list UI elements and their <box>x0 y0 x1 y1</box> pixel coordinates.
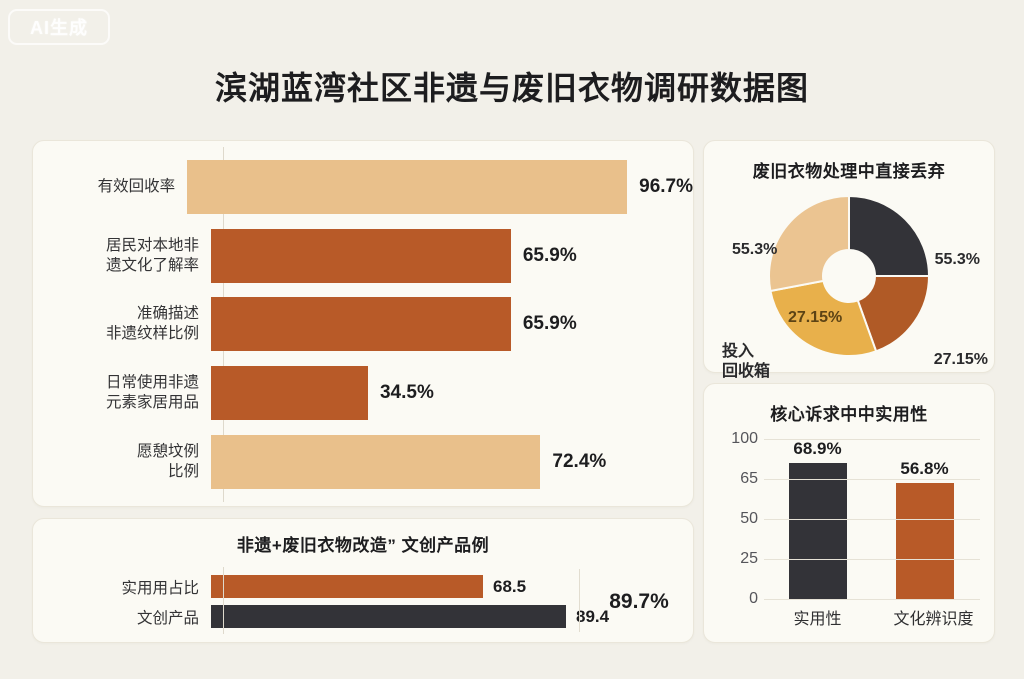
core-demand-title: 核心诉求中中实用性 <box>704 400 994 425</box>
core-demand-value: 68.9% <box>793 439 841 459</box>
core-demand-gridline <box>764 599 980 600</box>
survey-bar-row: 愿憩坟例 比例72.4% <box>33 431 693 493</box>
core-demand-y-tick: 0 <box>718 590 758 608</box>
creative-product-row: 实用用占比68.5 <box>33 574 653 599</box>
survey-bar-label: 有效回收率 <box>33 177 187 197</box>
donut-label-top-right: 55.3% <box>935 250 980 270</box>
survey-bar-row: 准确描述 非遗纹样比例65.9% <box>33 293 693 355</box>
donut-chart-area: 55.3% 55.3% 27.15% 投入 回收箱 27.15% <box>704 188 994 364</box>
core-demand-y-tick: 100 <box>718 430 758 448</box>
core-demand-gridline <box>764 559 980 560</box>
core-demand-chart-area: 1006550250 68.9%56.8% 实用性文化辨识度 <box>718 439 980 629</box>
core-demand-gridline <box>764 519 980 520</box>
survey-bar-label: 居民对本地非 遗文化了解率 <box>33 236 211 276</box>
survey-bar-track: 72.4% <box>211 435 693 489</box>
core-demand-x-label: 实用性 <box>787 605 849 629</box>
survey-bar-row: 居民对本地非 遗文化了解率65.9% <box>33 225 693 287</box>
donut-chart-svg <box>763 190 935 362</box>
donut-label-bottom-left: 投入 回收箱 <box>722 342 770 381</box>
donut-slice <box>849 196 929 276</box>
survey-bar-value: 65.9% <box>523 313 577 335</box>
donut-label-inner: 27.15% <box>788 308 842 328</box>
ai-watermark-label: AI生成 <box>30 14 88 40</box>
survey-bar-value: 65.9% <box>523 245 577 267</box>
survey-bar-fill <box>211 229 511 283</box>
creative-axis-line <box>223 567 224 634</box>
creative-products-title: 非遗+废旧衣物改造” 文创产品例 <box>33 531 693 556</box>
survey-bar-value: 72.4% <box>552 451 606 473</box>
survey-bar-label: 日常使用非遗 元素家居用品 <box>33 373 211 413</box>
core-demand-y-tick: 50 <box>718 510 758 528</box>
disposal-donut-panel: 废旧衣物处理中直接丢弃 55.3% 55.3% 27.15% 投入 回收箱 27… <box>703 140 995 373</box>
survey-bar-chart-plot: 有效回收率96.7%居民对本地非 遗文化了解率65.9%准确描述 非遗纹样比例6… <box>33 141 693 506</box>
survey-bar-fill <box>211 435 540 489</box>
donut-slice <box>769 196 849 291</box>
core-demand-value: 56.8% <box>900 459 948 479</box>
survey-bar-track: 34.5% <box>211 366 693 420</box>
creative-product-label: 实用用占比 <box>33 576 211 598</box>
core-demand-bar <box>789 463 847 599</box>
core-demand-x-axis: 实用性文化辨识度 <box>764 605 978 629</box>
survey-bar-track: 65.9% <box>211 297 693 351</box>
survey-bar-value: 34.5% <box>380 382 434 404</box>
creative-product-bar <box>211 575 483 598</box>
survey-bar-track: 96.7% <box>187 160 693 214</box>
survey-bar-fill <box>211 297 511 351</box>
survey-bar-label: 准确描述 非遗纹样比例 <box>33 304 211 344</box>
creative-product-row: 文创产品89.4 <box>33 604 653 629</box>
creative-product-bar <box>211 605 566 628</box>
creative-divider <box>579 569 580 632</box>
survey-bar-label: 愿憩坟例 比例 <box>33 442 211 482</box>
survey-bar-chart-panel: 有效回收率96.7%居民对本地非 遗文化了解率65.9%准确描述 非遗纹样比例6… <box>32 140 694 507</box>
creative-product-label: 文创产品 <box>33 606 211 628</box>
creative-product-value: 68.5 <box>493 577 526 597</box>
core-demand-y-axis: 1006550250 <box>718 439 758 599</box>
creative-side-stat: 89.7% <box>589 590 689 614</box>
ai-generated-watermark: AI生成 <box>8 9 110 45</box>
donut-label-bottom-right: 27.15% <box>934 350 988 370</box>
survey-bar-row: 日常使用非遗 元素家居用品34.5% <box>33 362 693 424</box>
core-demand-panel: 核心诉求中中实用性 1006550250 68.9%56.8% 实用性文化辨识度 <box>703 383 995 643</box>
core-demand-gridline <box>764 479 980 480</box>
core-demand-y-tick: 25 <box>718 550 758 568</box>
core-demand-gridline <box>764 439 980 440</box>
core-demand-x-label: 文化辨识度 <box>894 605 956 629</box>
creative-products-panel: 非遗+废旧衣物改造” 文创产品例 实用用占比68.5文创产品89.4 89.7% <box>32 518 694 643</box>
creative-products-body: 实用用占比68.5文创产品89.4 89.7% <box>33 567 693 636</box>
survey-bar-fill <box>211 366 368 420</box>
survey-bar-track: 65.9% <box>211 229 693 283</box>
survey-bar-value: 96.7% <box>639 176 693 198</box>
creative-products-rows: 实用用占比68.5文创产品89.4 <box>33 574 653 629</box>
survey-bar-row: 有效回收率96.7% <box>33 156 693 218</box>
survey-bar-fill <box>187 160 627 214</box>
core-demand-y-tick: 65 <box>718 470 758 488</box>
core-demand-bar <box>896 483 954 599</box>
page-title: 滨湖蓝湾社区非遗与废旧衣物调研数据图 <box>0 63 1024 109</box>
donut-label-top-left: 55.3% <box>732 240 777 260</box>
donut-chart-title: 废旧衣物处理中直接丢弃 <box>704 157 994 182</box>
